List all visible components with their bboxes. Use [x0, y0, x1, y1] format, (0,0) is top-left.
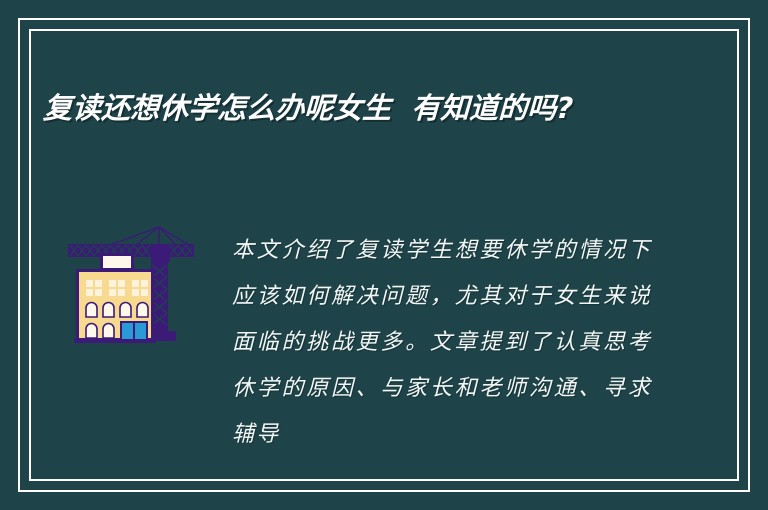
- article-cover-card: 复读还想休学怎么办呢女生 有知道的吗?: [0, 0, 768, 510]
- building-under-construction-icon: [58, 205, 210, 353]
- article-summary-text: 本文介绍了复读学生想要休学的情况下应该如何解决问题，尤其对于女生来说面临的挑战更…: [232, 228, 652, 468]
- page-title: 复读还想休学怎么办呢女生 有知道的吗?: [42, 85, 684, 131]
